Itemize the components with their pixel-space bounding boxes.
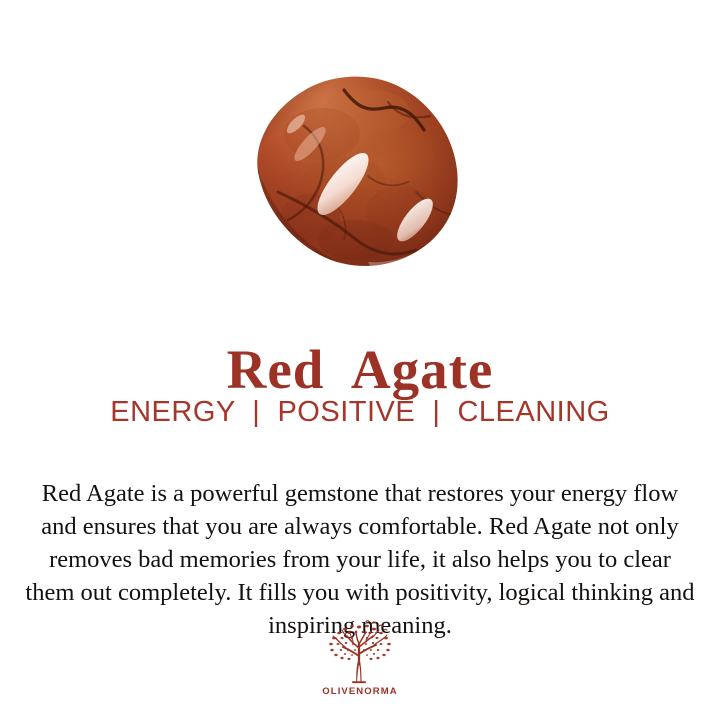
red-agate-stone-illustration <box>248 72 464 272</box>
product-info-card: Red Agate ENERGY | POSITIVE | CLEANING R… <box>0 0 720 720</box>
description-text: Red Agate is a powerful gemstone that re… <box>22 477 698 642</box>
olivenorma-tree-icon <box>322 620 398 684</box>
brand-wordmark: OLIVENORMA <box>310 686 410 697</box>
brand-logo: OLIVENORMA <box>310 620 410 708</box>
gemstone-hero-image <box>248 72 464 272</box>
page-title: Red Agate <box>0 340 720 400</box>
keyword-line: ENERGY | POSITIVE | CLEANING <box>0 396 720 429</box>
